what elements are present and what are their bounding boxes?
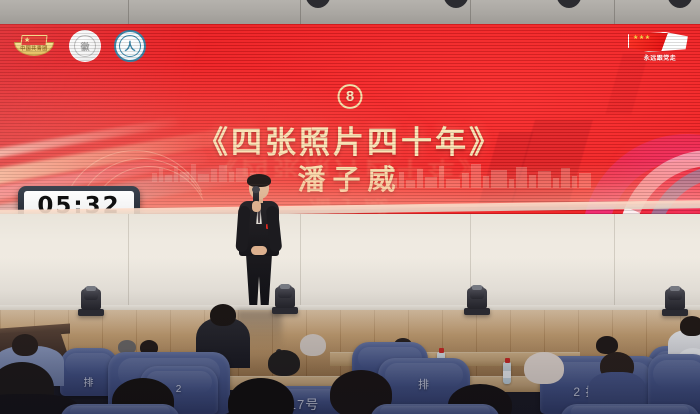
university-seal-emblem-icon: 徽 [69, 30, 101, 62]
communist-youth-league-emblem-icon: ★ 中国共青团 [12, 33, 56, 59]
wall-seam [470, 0, 471, 26]
speaker-hands [251, 246, 267, 255]
wall-seam [128, 0, 129, 26]
national-flag-emblem-icon: ★★★ 永远跟党走 [628, 30, 690, 62]
contestant-number-badge: 8 [338, 84, 363, 109]
audience-area: 排 排 2 排 排18号 2 排15号 排 [0, 300, 700, 414]
audience-head [268, 350, 300, 376]
audience-head [210, 304, 236, 326]
led-logo-row: ★ 中国共青团 徽 人 [12, 30, 146, 62]
audience-seat[interactable] [560, 404, 700, 414]
audience-head [300, 334, 326, 356]
wall-seam [614, 0, 615, 26]
speech-title: 《四张照片四十年》 [0, 117, 700, 162]
water-bottle [503, 362, 511, 384]
audience-seat[interactable] [370, 404, 500, 414]
auditorium-scene: 《四张照片四十年》 潘子威 ★ 中国共青团 徽 人 ★★★ 永远跟党走 8 《四… [0, 0, 700, 414]
audience-head [524, 352, 564, 384]
backdrop-panel [605, 54, 648, 114]
speaker-mic-hand [252, 201, 261, 212]
health-commission-emblem-icon: 人 [114, 30, 146, 62]
audience-head [680, 316, 700, 336]
upper-wall [0, 0, 700, 26]
audience-seat[interactable] [60, 404, 180, 414]
wall-seam [300, 0, 301, 26]
audience-head [12, 334, 38, 356]
microphone-head-icon [252, 186, 260, 193]
youth-league-emblem-label: 中国共青团 [19, 45, 49, 52]
corner-logo-label: 永远跟党走 [632, 53, 688, 62]
